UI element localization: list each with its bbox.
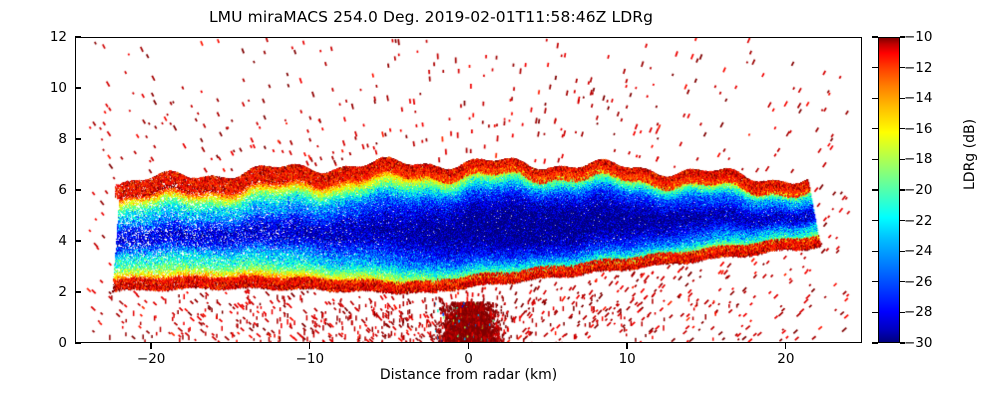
colorbar-tick-label: −22: [904, 212, 933, 230]
colorbar-tick-mark-left: [872, 98, 878, 99]
colorbar-tick-mark-left: [872, 251, 878, 252]
colorbar-tick-mark-left: [872, 220, 878, 221]
chart-title: LMU miraMACS 254.0 Deg. 2019-02-01T11:58…: [0, 8, 862, 26]
colorbar-tick-label: −28: [904, 303, 933, 321]
y-tick-label: 0: [31, 334, 67, 352]
x-tick-label: 0: [464, 351, 473, 367]
x-tick-label: −20: [137, 351, 166, 367]
colorbar-tick-label: −14: [904, 89, 933, 107]
y-tick-mark: [75, 291, 81, 292]
y-tick-mark: [75, 36, 81, 37]
colorbar-tick-mark-left: [872, 159, 878, 160]
y-tick-mark: [75, 189, 81, 190]
y-tick-mark: [75, 138, 81, 139]
y-tick-label: 12: [31, 28, 67, 46]
colorbar-tick-label: −20: [904, 181, 933, 199]
x-tick-mark: [626, 343, 627, 349]
colorbar-tick-label: −18: [904, 150, 933, 168]
x-tick-mark: [309, 343, 310, 349]
colorbar-label: LDRg (dB): [962, 119, 978, 190]
radar-data-canvas: [76, 38, 861, 342]
y-tick-label: 2: [31, 283, 67, 301]
y-tick-mark: [75, 240, 81, 241]
colorbar-tick-label: −30: [904, 334, 933, 352]
colorbar-tick-mark-left: [872, 189, 878, 190]
y-tick-mark: [75, 87, 81, 88]
y-tick-label: 6: [31, 181, 67, 199]
x-axis-label: Distance from radar (km): [75, 367, 862, 383]
colorbar-tick-label: −26: [904, 273, 933, 291]
x-tick-mark: [150, 343, 151, 349]
colorbar-tick-mark-left: [872, 67, 878, 68]
colorbar-tick-mark-left: [872, 312, 878, 313]
colorbar-tick-mark-left: [872, 36, 878, 37]
colorbar-tick-label: −12: [904, 59, 933, 77]
colorbar-tick-mark-left: [872, 281, 878, 282]
colorbar: [878, 37, 900, 343]
y-tick-mark: [75, 342, 81, 343]
colorbar-tick-label: −16: [904, 120, 933, 138]
x-tick-label: 20: [777, 351, 794, 367]
radar-rhi-figure: LMU miraMACS 254.0 Deg. 2019-02-01T11:58…: [0, 0, 1000, 400]
x-tick-label: −10: [296, 351, 325, 367]
colorbar-tick-label: −24: [904, 242, 933, 260]
x-tick-mark: [785, 343, 786, 349]
y-tick-label: 8: [31, 130, 67, 148]
colorbar-tick-mark-left: [872, 342, 878, 343]
y-tick-label: 10: [31, 79, 67, 97]
y-tick-label: 4: [31, 232, 67, 250]
plot-axes: [75, 37, 862, 343]
colorbar-tick-mark-left: [872, 128, 878, 129]
colorbar-tick-label: −10: [904, 28, 933, 46]
x-tick-mark: [468, 343, 469, 349]
x-tick-label: 10: [619, 351, 636, 367]
